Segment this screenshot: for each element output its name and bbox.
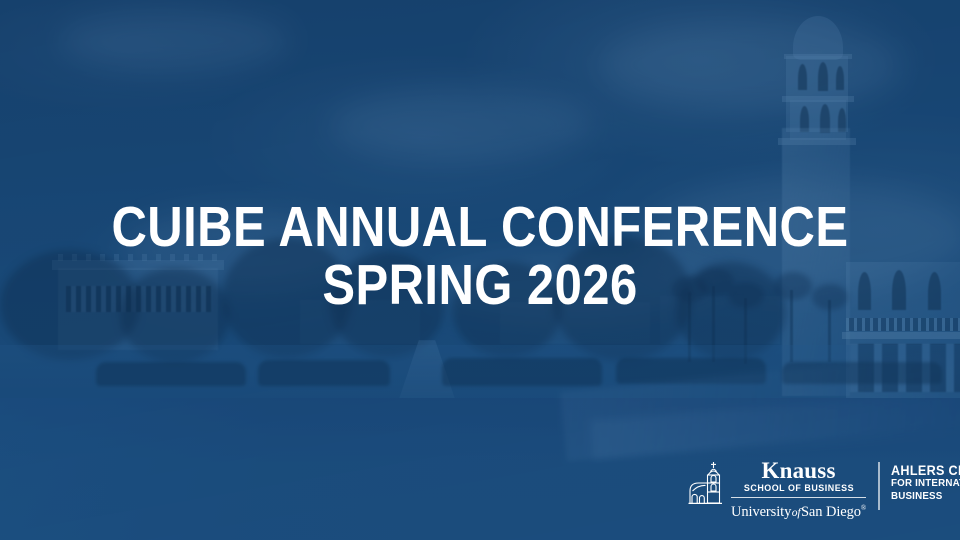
ahlers-line-2: FOR INTERNATIONAL xyxy=(891,478,960,491)
ahlers-line-1: AHLERS CENTER xyxy=(891,463,960,478)
title-line-2: SPRING 2026 xyxy=(67,256,893,314)
ahlers-center-logo: AHLERS CENTER FOR INTERNATIONAL BUSINESS xyxy=(891,458,960,503)
university-of-san-diego: UniversityofSan Diego® xyxy=(731,500,866,521)
knauss-school-logo: Knauss SCHOOL OF BUSINESS UniversityofSa… xyxy=(686,458,866,521)
usd-word-university: University xyxy=(731,504,791,520)
knauss-wordmark: Knauss xyxy=(762,460,836,482)
title-line-1: CUIBE ANNUAL CONFERENCE xyxy=(67,198,893,256)
slide-title: CUIBE ANNUAL CONFERENCE SPRING 2026 xyxy=(0,198,960,314)
knauss-wordmark-block: Knauss SCHOOL OF BUSINESS UniversityofSa… xyxy=(731,460,866,521)
logo-lockup: Knauss SCHOOL OF BUSINESS UniversityofSa… xyxy=(686,458,948,518)
logo-divider-rule xyxy=(731,497,866,498)
conference-title-slide: CUIBE ANNUAL CONFERENCE SPRING 2026 xyxy=(0,0,960,540)
usd-word-of: of xyxy=(791,507,801,519)
mission-church-icon xyxy=(686,461,726,505)
knauss-subtitle: SCHOOL OF BUSINESS xyxy=(743,482,853,494)
logo-vertical-divider xyxy=(878,462,879,510)
usd-word-san-diego: San Diego xyxy=(801,504,861,520)
ahlers-line-3: BUSINESS xyxy=(891,491,960,504)
registered-trademark-mark: ® xyxy=(861,504,866,512)
